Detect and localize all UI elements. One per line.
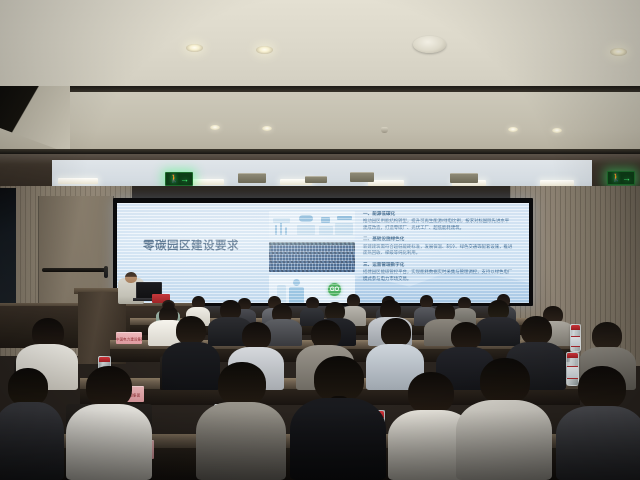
recessed-downlight xyxy=(186,44,203,52)
audience-head xyxy=(86,366,132,408)
audience-head xyxy=(176,316,206,345)
slide-section-body: 新建建筑需符合超低能耗标准，发展保温、制冷、绿色交通等配套设施，推进废热回收、梯… xyxy=(363,244,513,257)
name-card-text: 中国电力建设集团 xyxy=(116,336,142,341)
slide-image-diagram xyxy=(269,211,355,239)
running-man-icon: 🚶 xyxy=(611,174,621,182)
presenter-head xyxy=(125,272,137,283)
audience-member xyxy=(0,368,64,480)
recessed-downlight xyxy=(262,126,272,131)
air-supply-grille xyxy=(305,176,327,183)
name-card: 中国电力建设集团 xyxy=(116,332,142,344)
audience-torso xyxy=(456,400,552,480)
audience-torso xyxy=(0,402,64,480)
air-supply-grille xyxy=(450,173,478,183)
exit-sign-right: 🚶 → xyxy=(607,171,635,185)
air-supply-grille xyxy=(238,173,266,183)
slide-image-column: GO xyxy=(269,211,355,303)
audience-member xyxy=(196,362,286,480)
audience-member xyxy=(456,358,552,480)
slide-title: 零碳园区建设要求 xyxy=(129,241,253,253)
ceiling-upper-plane xyxy=(0,0,640,92)
audience-torso xyxy=(290,398,386,480)
audience-head xyxy=(592,322,622,350)
running-man-icon: 🚶 xyxy=(169,175,179,183)
conference-room-screenshot: 🚶 → 🚶 → 零碳园区建设要求 xyxy=(0,0,640,480)
door-handle-icon[interactable] xyxy=(104,266,108,278)
audience-head xyxy=(242,322,271,350)
audience-torso xyxy=(196,402,286,480)
recessed-downlight xyxy=(256,46,273,54)
ceiling-lower-plane xyxy=(0,92,640,154)
recessed-downlight xyxy=(610,48,627,56)
audience-head xyxy=(218,362,266,406)
audience-head xyxy=(521,316,552,345)
smoke-detector-icon xyxy=(413,36,446,53)
audience-head xyxy=(578,366,626,410)
recessed-downlight xyxy=(210,125,220,130)
audience-member xyxy=(290,356,386,480)
audience-head xyxy=(8,368,48,406)
sprinkler-head-icon xyxy=(381,127,388,133)
window xyxy=(0,188,16,306)
bottle-cap xyxy=(99,357,110,362)
slide-image-solar-farm xyxy=(269,242,355,272)
slide-section-body: 搭建园区能碳管控平台，实现能耗数据实时采集与管理调控，支持以绿色电厂模式参与电力… xyxy=(363,269,513,282)
slide-text-column: 一、能源低碳化 推动园区用能结构转型，提升可再生能源/绿电比例，按求对标国际先进… xyxy=(363,211,513,287)
audience-torso xyxy=(66,404,152,480)
air-supply-grille xyxy=(350,172,374,182)
audience-head xyxy=(451,322,481,350)
slide-section-heading: 三、运营管理数字化 xyxy=(363,262,513,268)
linear-light-fixture xyxy=(188,179,224,185)
arrow-right-icon: → xyxy=(622,174,631,183)
recessed-downlight xyxy=(552,128,562,133)
hair-bun xyxy=(163,302,174,310)
audience-torso xyxy=(556,406,640,480)
audience-member xyxy=(66,366,152,480)
door-push-bar[interactable] xyxy=(42,268,106,272)
slide-section-heading: 一、能源低碳化 xyxy=(363,211,513,217)
audience-head xyxy=(311,320,341,348)
arrow-right-icon: → xyxy=(180,175,189,184)
bottle-cap xyxy=(567,353,578,358)
audience-head xyxy=(480,358,530,404)
exit-sign-left: 🚶 → xyxy=(165,172,193,186)
linear-light-fixture xyxy=(58,178,98,184)
audience-head xyxy=(408,372,454,414)
slide-section-heading: 二、基础设施绿色化 xyxy=(363,236,513,242)
recessed-downlight xyxy=(508,127,518,132)
audience-head xyxy=(381,318,411,347)
led-presentation-screen: 零碳园区建设要求 xyxy=(117,203,529,303)
slide-section-body: 推动园区用能结构转型，提升可再生能源/绿电比例，按求对标国际先进水平建成改造，打… xyxy=(363,218,513,231)
audience-member xyxy=(556,366,640,480)
